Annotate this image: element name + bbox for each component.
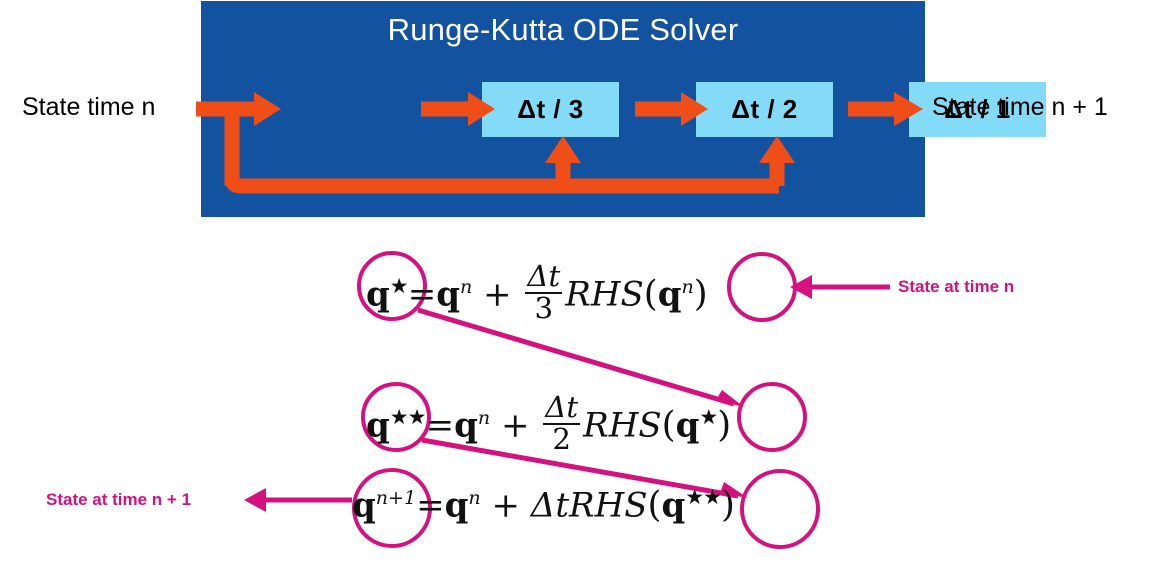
eq2-lhs-base: q xyxy=(366,406,390,446)
eq2-operator: RHS xyxy=(583,406,662,446)
input-state-label: State time n xyxy=(22,93,155,122)
eq2-arg-sup: ★ xyxy=(699,404,717,429)
output-state-label: State time n + 1 xyxy=(932,93,1108,122)
eq1-coeff-num: Δt xyxy=(525,262,562,292)
eq3-lhs-base: q xyxy=(352,485,376,525)
eq1-arg-sup: n xyxy=(682,276,694,298)
eq2-paren-open: ( xyxy=(662,405,676,446)
eq3-lhs-sup: n+1 xyxy=(376,487,416,509)
annot-arrow-state-np1-head xyxy=(244,488,266,512)
eq1-operator: RHS xyxy=(565,275,644,315)
eq3-paren-close: ) xyxy=(721,484,735,525)
eq3-equals: = xyxy=(416,485,445,525)
eq3-arg-sup: ★★ xyxy=(685,484,721,509)
eq1-lhs-base: q xyxy=(366,275,390,315)
eq1-coeff-den: 3 xyxy=(525,292,562,324)
eq2-arg-base: q xyxy=(676,406,700,446)
eq3-plus: + xyxy=(491,485,520,525)
eq1-arg-base: q xyxy=(658,275,682,315)
eq2-coeff-den: 2 xyxy=(543,423,580,455)
solver-panel: Runge-Kutta ODE Solver Δt / 3 Δt / 2 Δt … xyxy=(201,1,925,217)
annotation-state-at-time-n-plus-1: State at time n + 1 xyxy=(46,490,191,510)
solver-title: Runge-Kutta ODE Solver xyxy=(201,13,925,47)
eq2-paren-close: ) xyxy=(717,405,731,446)
diagram-page: Runge-Kutta ODE Solver Δt / 3 Δt / 2 Δt … xyxy=(0,0,1170,569)
stage-label-0: Δt / 3 xyxy=(517,94,583,125)
eq3-rhs-state-sup: n xyxy=(468,487,480,509)
eq1-coefficient: Δt3 xyxy=(525,262,562,324)
eq1-rhs-state-sup: n xyxy=(460,276,472,298)
annot-arrow-state-n-head xyxy=(790,275,812,299)
equation-stage-2: q★★=qn + Δt2RHS(q★) xyxy=(366,393,731,455)
circle-q-n-arg xyxy=(729,254,795,320)
eq2-rhs-state-sup: n xyxy=(478,407,490,429)
eq2-rhs-state: q xyxy=(454,406,478,446)
eq1-equals: = xyxy=(408,275,437,315)
eq2-plus: + xyxy=(501,406,530,446)
annotation-state-at-time-n: State at time n xyxy=(898,277,1014,297)
eq3-paren-open: ( xyxy=(648,484,662,525)
circle-q-star-arg xyxy=(739,384,805,450)
eq2-coefficient: Δt2 xyxy=(543,393,580,455)
stage-label-1: Δt / 2 xyxy=(731,94,797,125)
circle-q-starstar-arg xyxy=(742,471,818,547)
stage-box-dt-over-3[interactable]: Δt / 3 xyxy=(482,82,619,137)
eq1-rhs-state: q xyxy=(436,275,460,315)
equation-stage-3: qn+1=qn + ΔtRHS(q★★) xyxy=(352,484,735,525)
eq1-lhs-sup: ★ xyxy=(390,273,408,298)
eq3-arg-base: q xyxy=(661,485,685,525)
eq2-equals: = xyxy=(426,406,455,446)
eq1-paren-close: ) xyxy=(694,274,708,315)
eq3-coefficient: Δt xyxy=(531,485,569,525)
eq3-rhs-state: q xyxy=(445,485,469,525)
eq1-plus: + xyxy=(483,275,512,315)
equation-stage-1: q★=qn + Δt3RHS(qn) xyxy=(366,262,708,324)
eq2-coeff-num: Δt xyxy=(543,393,580,423)
stage-box-dt-over-2[interactable]: Δt / 2 xyxy=(696,82,833,137)
eq2-lhs-sup: ★★ xyxy=(390,404,426,429)
eq3-operator: RHS xyxy=(569,485,648,525)
eq1-paren-open: ( xyxy=(644,274,658,315)
